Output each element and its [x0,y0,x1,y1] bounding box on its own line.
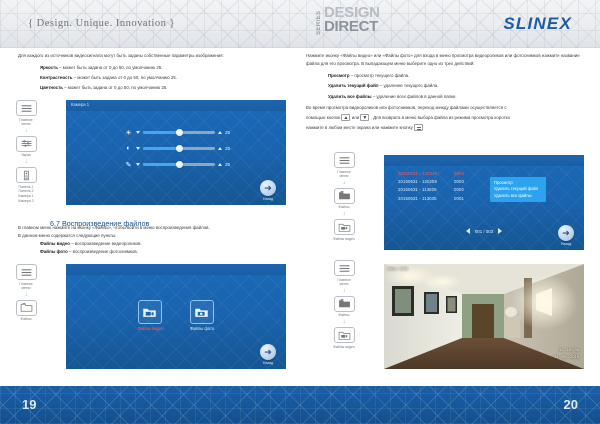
back-arrow-icon: ➔ [264,184,272,193]
page-footer: 19 20 [0,386,600,424]
action-view: Просмотр – просмотр текущего файла. [306,72,592,80]
video-files-label: Файлы видео [138,326,164,331]
sliders-icon [20,138,33,149]
video-folder-icon-2 [338,222,351,233]
arrow-down-icon-7: ↓ [343,319,346,326]
brightness-knob[interactable] [176,129,183,136]
down-button-icon: ▼ [360,114,369,121]
arrow-down-icon-3: ↓ [25,292,28,299]
menu-icon-4 [338,263,351,274]
arrow-down-icon: ↓ [25,128,28,135]
page-header: { Design. Unique. Innovation } SERIES DE… [0,0,600,48]
context-menu-item-delete-all[interactable]: Удалить все файлы [494,193,542,199]
contrast-slider-row[interactable]: ◐ 25 [124,144,235,153]
files-back-button[interactable]: ➔ Назад [257,344,279,365]
list-back-button[interactable]: ➔ Назад [555,225,577,246]
intro-paragraph: Для каждого из источников видеосигнала м… [18,52,304,60]
contrast-icon: ◐ [124,144,133,153]
rail2-label-main-menu: Главное меню [19,282,32,291]
right-nav-rail-2: Главное меню ↓ Файлы ↓ Файлы видео [324,260,364,349]
param-contrast: Контрастность – может быть задана от 0 д… [18,74,304,82]
param-color-desc: – может быть задана от 0 до 50, по умолч… [63,85,168,90]
menu-button-icon [414,124,423,131]
video-folder-icon-3 [338,330,351,341]
photo-files-button[interactable]: Файлы фото [190,300,214,331]
rrail-item-files[interactable] [334,188,355,204]
action-delete-all-term: Удалить все файлы [328,94,371,99]
file-name: 20150631 - 120349 [398,171,448,176]
photo-counter: 0005 / 0005 [387,266,408,271]
table-row[interactable]: 20150631 - 113826 0002 [398,187,468,192]
sidebar2-item-files[interactable] [16,300,37,316]
back-button[interactable]: ➔ Назад [257,180,279,201]
action-view-desc: – просмотр текущего файла. [350,73,410,78]
rrail-item-video-files[interactable] [334,219,355,235]
back-arrow-icon-2: ➔ [264,348,272,357]
arrow-down-icon-6: ↓ [343,288,346,295]
table-row[interactable]: 20150631 - 120259 0003 [398,179,468,184]
right-body-2e: нажмите в любом месте экрана или нажмите… [306,125,413,130]
item-video-files: Файлы видео – воспроизведение видеоролик… [18,240,142,248]
right-nav-rail-1: Главное меню ↓ Файлы ↓ Файлы видео [324,152,364,241]
screen-topbar [66,100,286,111]
right-body-2a: Во время просмотра видеороликов или фото… [306,104,592,112]
rrail-label-files: Файлы [338,205,349,210]
files-screen-topbar [66,264,286,275]
right-body-2b-line: помощью кнопок ▲ или ▼ . Для возврата в … [306,114,592,122]
brightness-track[interactable] [143,131,215,134]
camera-title: Камера 1 [71,102,89,107]
right-body-1: Нажмите иконку «Файлы видео» или «Файлы … [306,52,592,68]
item-photo-files-term: Файлы фото [40,249,68,254]
rrail2-item-main-menu[interactable] [334,260,355,276]
page-number-right: 20 [564,397,578,412]
series-design-direct-logo: SERIES DESIGN DIRECT [315,6,380,36]
file-index: 0003 [454,179,468,184]
param-color: Цветность – может быть задана от 0 до 50… [18,84,304,92]
rail-label-panels: Панель 1 Панель 2 Камера 1 Камера 2 [18,185,33,204]
sidebar2-item-main-menu[interactable] [16,264,37,280]
photo-files-label: Файлы фото [190,326,214,331]
photo-date: 31 - 06 - 2015 [554,354,579,360]
right-body-2c: или [352,115,359,120]
color-knob[interactable] [176,161,183,168]
brightness-value: 25 [225,130,235,135]
video-files-button[interactable]: Файлы видео [138,300,164,331]
photo-preview-screen: 0005 / 0005 12 : 10 : 35 31 - 06 - 2015 [384,264,584,369]
rrail-label-main-menu: Главное меню [337,170,350,179]
context-menu-item-delete-current[interactable]: Удалить текущий файл [494,186,542,192]
menu-icon [20,103,33,114]
logo-direct: DIRECT [324,20,380,34]
next-page-button[interactable] [498,228,502,234]
page-number-left: 19 [22,397,36,412]
file-name: 20150631 - 113826 [398,187,448,192]
left-nav-rail-2: Главное меню ↓ Файлы [6,264,46,322]
list-screen-topbar [384,155,584,166]
action-delete-current-term: Удалить текущий файл [328,83,379,88]
files-menu-screen: Файлы видео Файлы фото ➔ Назад [66,264,286,369]
up-button-icon: ▲ [341,114,350,121]
contrast-decrease-button[interactable] [136,147,140,150]
rrail2-label-main-menu: Главное меню [337,278,350,287]
prev-page-button[interactable] [466,228,470,234]
body-paragraph-2: В данном меню содержатся следующие пункт… [18,232,304,240]
video-folder-icon [138,300,162,324]
action-delete-all-desc: – удаление всех файлов в данной папке. [371,94,456,99]
right-page-column: Нажмите иконку «Файлы видео» или «Файлы … [306,52,592,382]
param-contrast-term: Контрастность [40,75,72,80]
color-increase-button[interactable] [218,163,222,166]
rrail2-item-files[interactable] [334,296,355,312]
rail2-label-files: Файлы [20,317,31,322]
table-row[interactable]: 20150631 - 113035 0001 [398,196,468,201]
brightness-icon: ☀ [124,128,133,137]
param-brightness: Яркость – может быть задана от 0 до 50, … [18,64,304,72]
left-nav-rail-1: Главное меню ↓ Экран ↓ Панель 1 Панель 2… [6,100,46,204]
color-slider-row[interactable]: ✎ 25 [124,160,235,169]
menu-icon-2 [20,267,33,278]
arrow-down-icon-4: ↓ [343,180,346,187]
folder-icon [20,302,33,313]
color-icon: ✎ [124,160,133,169]
contrast-increase-button[interactable] [218,147,222,150]
item-video-files-desc: – воспроизведение видеороликов. [70,241,142,246]
brightness-increase-button[interactable] [218,131,222,134]
pager: 001 / 003 [384,228,584,234]
camera-settings-screen: Камера 1 ☀ 25 ◐ 25 ✎ [66,100,286,205]
param-brightness-desc: – может быть задана от 0 до 50, по умолч… [58,65,163,70]
rrail2-item-video-files[interactable] [334,327,355,343]
action-delete-current-desc: – удаление текущего файла. [379,83,439,88]
folder-icon-3 [338,298,351,309]
tagline: { Design. Unique. Innovation } [28,18,175,29]
color-decrease-button[interactable] [136,163,140,166]
sidebar-item-screen[interactable] [16,136,37,152]
right-body-2d: . Для возврата в меню выбора файла из ре… [371,115,510,120]
item-video-files-term: Файлы видео [40,241,70,246]
sidebar-item-main-menu[interactable] [16,100,37,116]
item-photo-files-desc: – воспроизведение фотоснимков. [68,249,138,254]
table-row[interactable]: 20150631 - 120349 0004 [398,171,468,176]
contrast-value: 25 [225,146,235,151]
menu-icon-3 [338,155,351,166]
pager-label: 001 / 003 [475,229,493,234]
rail-label-main-menu: Главное меню [19,118,32,127]
file-name: 20150631 - 120259 [398,179,448,184]
photo-folder-icon [190,300,214,324]
file-name: 20150631 - 113035 [398,196,448,201]
photo-timestamp: 12 : 10 : 35 31 - 06 - 2015 [554,347,579,360]
context-menu[interactable]: Просмотр Удалить текущий файл Удалить вс… [490,177,546,202]
file-list-screen: 20150631 - 120349 0004 20150631 - 120259… [384,155,584,250]
files-back-label: Назад [257,361,279,365]
arrow-down-icon-2: ↓ [25,159,28,166]
left-page-column: Для каждого из источников видеосигнала м… [18,52,304,382]
file-index: 0004 [454,171,468,176]
folder-icon-2 [338,190,351,201]
rrail2-label-files: Файлы [338,313,349,318]
file-index: 0001 [454,196,468,201]
rrail2-label-video-files: Файлы видео [333,345,355,350]
action-view-term: Просмотр [328,73,350,78]
item-photo-files: Файлы фото – воспроизведение фотоснимков… [18,248,138,256]
param-brightness-term: Яркость [40,65,58,70]
series-word: SERIES [315,6,323,36]
back-label: Назад [257,197,279,201]
panel-icon [20,170,33,181]
arrow-down-icon-5: ↓ [343,211,346,218]
param-contrast-desc: – может быть задана от 0 до 50, по умолч… [72,75,177,80]
file-index: 0002 [454,187,468,192]
contrast-knob[interactable] [176,145,183,152]
body-paragraph-1: В главном меню нажмите на иконку «Файлы»… [18,224,304,232]
list-back-label: Назад [555,242,577,246]
brightness-decrease-button[interactable] [136,131,140,134]
rrail-label-video-files: Файлы видео [333,237,355,242]
color-value: 25 [225,162,235,167]
brightness-slider-row[interactable]: ☀ 25 [124,128,235,137]
action-delete-current: Удалить текущий файл – удаление текущего… [306,82,592,90]
back-arrow-icon-3: ➔ [562,229,570,238]
rail-label-screen: Экран [21,153,31,158]
rrail-item-main-menu[interactable] [334,152,355,168]
sidebar-item-panels[interactable] [16,167,37,183]
contrast-track[interactable] [143,147,215,150]
right-body-2e-line: нажмите в любом месте экрана или нажмите… [306,124,592,132]
color-track[interactable] [143,163,215,166]
action-delete-all: Удалить все файлы – удаление всех файлов… [306,93,592,101]
slinex-brand: SLINEX [503,14,572,34]
right-body-2b: помощью кнопок [306,115,340,120]
param-color-term: Цветность [40,85,63,90]
